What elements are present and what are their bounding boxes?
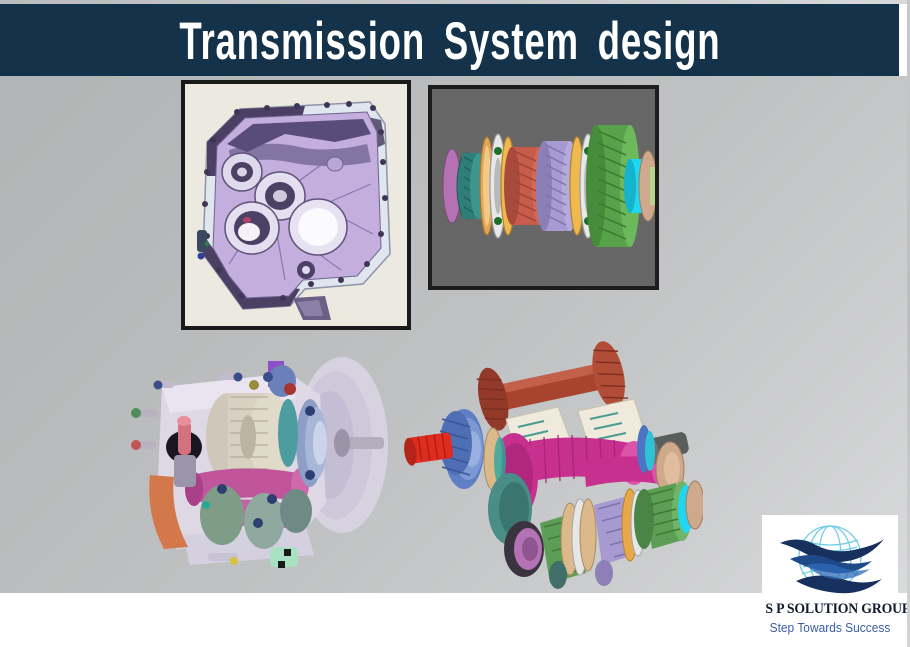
transmission-assembly-illustration — [130, 325, 405, 585]
slide-title-bar: Transmission System design — [0, 4, 899, 76]
logo-company-name: S P SOLUTION GROUP — [765, 601, 894, 618]
page-title: Transmission System design — [179, 9, 720, 71]
globe-with-birds-icon — [772, 519, 888, 599]
presentation-slide: Transmission System design — [0, 0, 910, 647]
title-bar-right-gap — [899, 4, 907, 76]
company-logo-panel: S P SOLUTION GROUP Step Towards Success — [762, 515, 898, 643]
logo-tagline: Step Towards Success — [767, 620, 892, 635]
gear-train-illustration — [398, 327, 703, 595]
gearbox-housing-illustration — [185, 84, 407, 326]
figure-transmission-assembly — [130, 325, 405, 585]
figure-gearbox-housing — [181, 80, 411, 330]
figure-gear-train — [398, 327, 703, 595]
figure-gear-shaft-assembly — [428, 85, 659, 290]
gear-shaft-assembly-illustration — [432, 89, 655, 286]
